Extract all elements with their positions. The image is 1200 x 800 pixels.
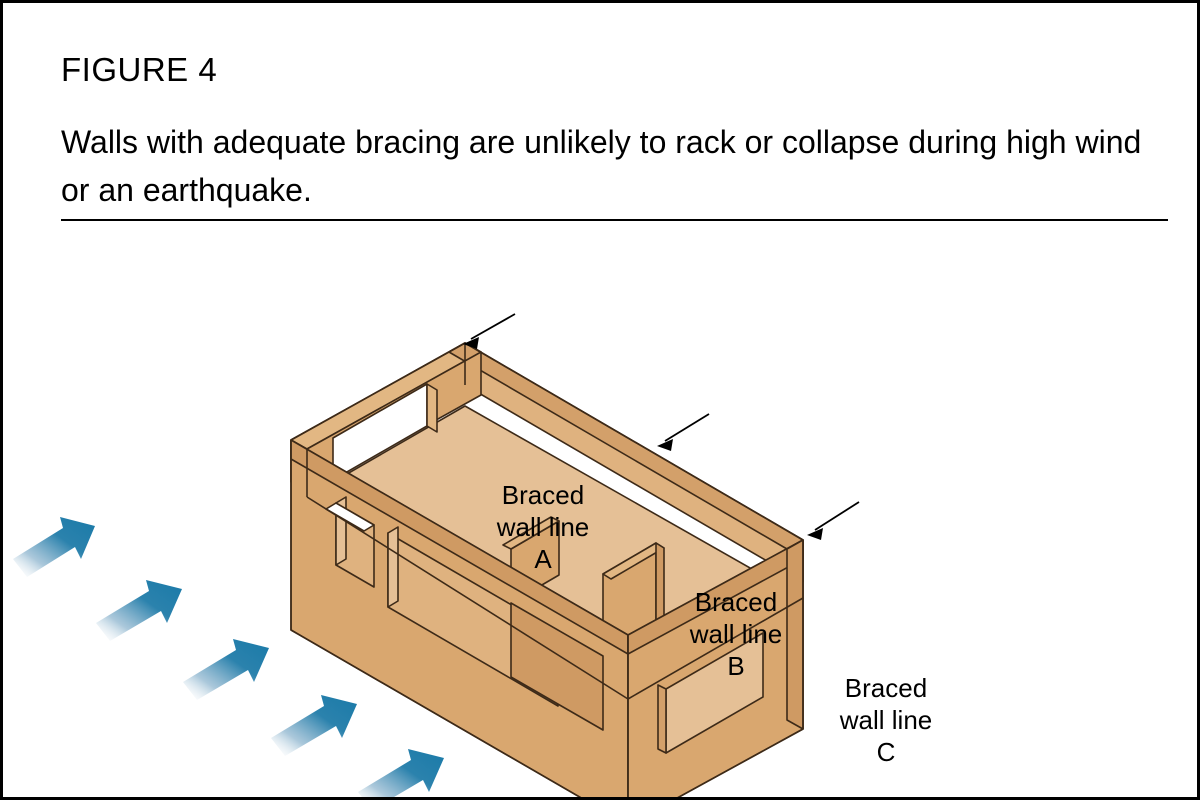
braced-wall-line-b-label: Braced wall line B [666, 586, 806, 682]
braced-wall-line-a-label: Braced wall line A [473, 479, 613, 575]
caption-divider-rule [61, 219, 1168, 221]
leader-arrow-a [463, 314, 515, 349]
figure-caption: Walls with adequate bracing are unlikely… [61, 118, 1151, 214]
figure-number-label: FIGURE 4 [61, 51, 217, 89]
wind-arrow-4 [271, 695, 357, 756]
wind-arrow-5 [358, 749, 444, 799]
front-wall-window-2-reveal [388, 527, 398, 607]
leader-arrow-b [657, 414, 709, 451]
wind-arrow-1 [13, 517, 95, 577]
right-wall-window-reveal [658, 685, 666, 753]
building-illustration: Braced wall line A Braced wall line B Br… [3, 229, 1200, 799]
wind-arrow-2 [96, 580, 182, 641]
wind-arrow-3 [183, 639, 269, 700]
braced-wall-line-c-label: Braced wall line C [816, 672, 956, 768]
figure-page: FIGURE 4 Walls with adequate bracing are… [0, 0, 1200, 800]
back-wall-window-reveal [427, 384, 437, 432]
leader-arrow-c [807, 502, 859, 540]
